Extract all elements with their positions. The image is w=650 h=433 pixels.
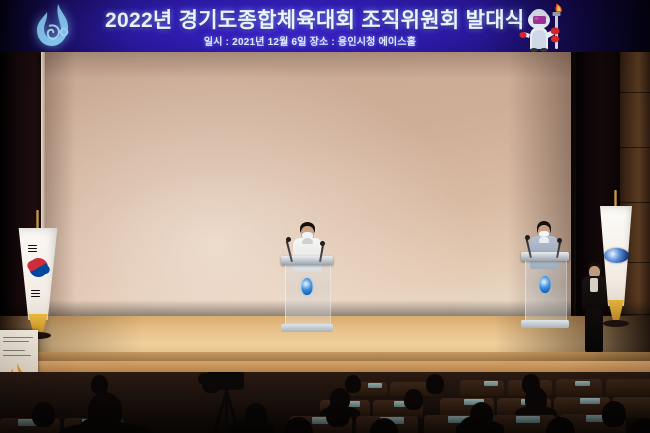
event-banner: 2022년 경기도종합체육대회 조직위원회 발대식 일시 : 2021년 12월… [0, 0, 650, 52]
speaker2-collar [539, 236, 549, 243]
podium-right [521, 252, 569, 328]
video-camera-tripod [196, 372, 266, 433]
standing-attendant [580, 262, 608, 354]
microphone2-head-right [557, 238, 562, 243]
stage-floor-lip [0, 352, 650, 361]
microphone2-head-left [525, 235, 530, 240]
attendant-blouse [590, 278, 598, 292]
speaker-collar [302, 238, 313, 244]
banner-subtitle: 일시 : 2021년 12월 6일 장소 : 용인시청 에이스홀 [105, 33, 515, 48]
flame-emblem-icon [28, 2, 80, 50]
podium-top-surface [281, 256, 333, 265]
audience-seating [0, 372, 650, 433]
photo-canvas: 2022년 경기도종합체육대회 조직위원회 발대식 일시 : 2021년 12월… [0, 0, 650, 433]
podium2-base [521, 320, 569, 328]
podium-emblem-icon [302, 278, 313, 295]
banner-title: 2022년 경기도종합체육대회 조직위원회 발대식 [105, 4, 515, 34]
podium-left [281, 256, 333, 332]
podium-base [281, 324, 333, 332]
microphone-head-right [320, 241, 325, 246]
podium2-emblem-icon [540, 276, 551, 293]
provincial-emblem-icon [604, 248, 629, 263]
camera-lens [198, 373, 210, 385]
torch-mascot-icon [510, 3, 574, 52]
korean-national-flag [16, 228, 60, 332]
microphone-head-left [286, 237, 291, 242]
attendant-legs [585, 308, 603, 352]
